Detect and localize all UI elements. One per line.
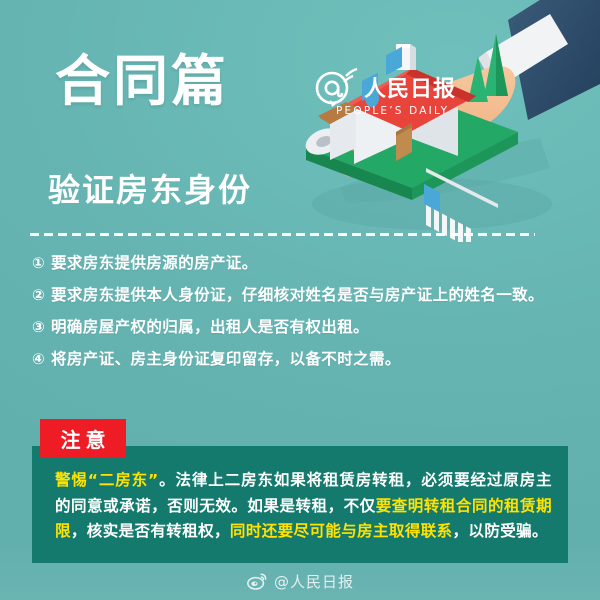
notice-badge: 注意 xyxy=(40,419,126,457)
list-marker: ② xyxy=(32,283,51,308)
notice-box: 警惕“二房东”。法律上二房东如果将租赁房转租，必须要经过原房主的同意或承诺，否则… xyxy=(32,446,568,563)
notice-segment-0: 警惕“二房东” xyxy=(55,471,159,489)
dashed-divider xyxy=(30,233,535,236)
weibo-icon xyxy=(246,570,268,592)
list-item-text: 将房产证、房主身份证复印留存，以备不时之需。 xyxy=(51,347,572,372)
hand-holding-house-illustration xyxy=(300,0,600,242)
footer: @人民日报 xyxy=(0,570,600,592)
list-item-text: 要求房东提供本人身份证，仔细核对姓名是否与房产证上的姓名一致。 xyxy=(51,283,572,308)
notice-segment-5: ，以防受骗。 xyxy=(453,522,548,540)
list-item: ③ 明确房屋产权的归属，出租人是否有权出租。 xyxy=(32,315,572,340)
notice-segment-3: ，核实是否有转租权， xyxy=(71,522,230,540)
footer-handle: @人民日报 xyxy=(274,571,354,592)
notice-segment-4: 同时还要尽可能与房主取得联系 xyxy=(230,522,453,540)
list-item-text: 要求房东提供房源的房产证。 xyxy=(51,251,572,276)
tips-list: ① 要求房东提供房源的房产证。 ② 要求房东提供本人身份证，仔细核对姓名是否与房… xyxy=(32,251,572,379)
list-marker: ④ xyxy=(32,347,51,372)
list-item: ② 要求房东提供本人身份证，仔细核对姓名是否与房产证上的姓名一致。 xyxy=(32,283,572,308)
list-marker: ③ xyxy=(32,315,51,340)
list-marker: ① xyxy=(32,251,51,276)
list-item: ④ 将房产证、房主身份证复印留存，以备不时之需。 xyxy=(32,347,572,372)
page-subtitle: 验证房东身份 xyxy=(48,172,252,209)
poster-root: 人民日报 PEOPLE’S DAILY 合同篇 验证房东身份 ① 要求房东提供房… xyxy=(0,0,600,600)
notice-text: 警惕“二房东”。法律上二房东如果将租赁房转租，必须要经过原房主的同意或承诺，否则… xyxy=(55,468,552,545)
page-title: 合同篇 xyxy=(55,52,229,110)
list-item-text: 明确房屋产权的归属，出租人是否有权出租。 xyxy=(51,315,572,340)
list-item: ① 要求房东提供房源的房产证。 xyxy=(32,251,572,276)
